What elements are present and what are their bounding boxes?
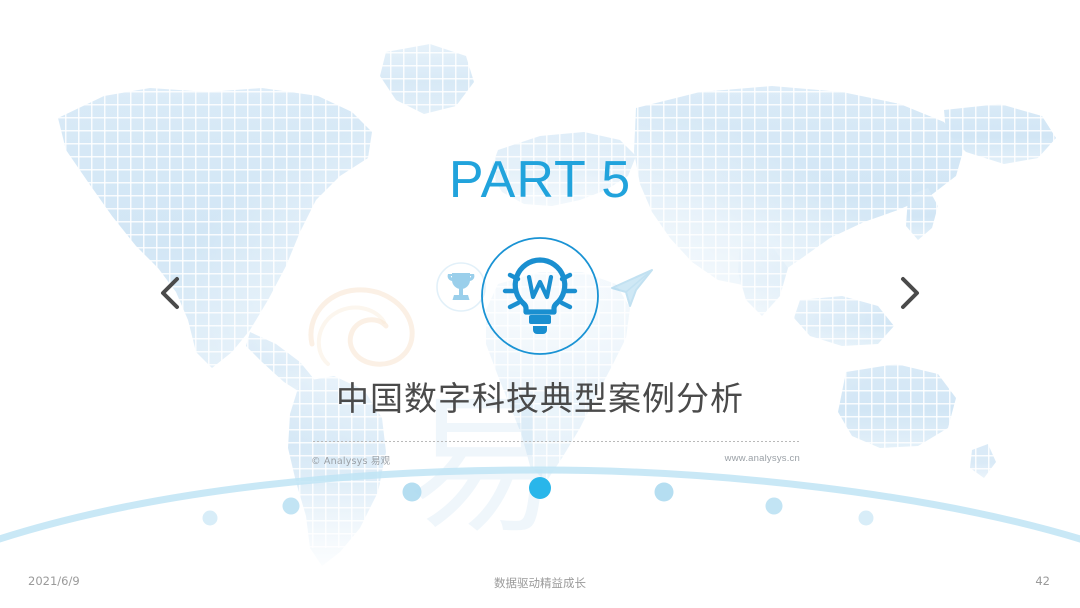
slide-footer: 2021/6/9 数据驱动精益成长 42 <box>0 560 1080 608</box>
footer-tagline: 数据驱动精益成长 <box>0 575 1080 591</box>
slide-subtitle: 中国数字科技典型案例分析 <box>0 372 1080 420</box>
progress-dot[interactable] <box>283 498 300 515</box>
progress-arc <box>0 460 1080 545</box>
progress-dot[interactable] <box>766 498 783 515</box>
next-slide-button[interactable] <box>886 268 934 318</box>
progress-dot-active[interactable] <box>529 477 551 499</box>
progress-dot[interactable] <box>859 511 874 526</box>
footer-page-number: 42 <box>1035 574 1050 588</box>
progress-dot[interactable] <box>655 483 674 502</box>
presentation-slide: 易 PART 5 <box>0 0 1080 608</box>
chevron-left-icon <box>156 275 184 311</box>
chevron-right-icon <box>896 275 924 311</box>
previous-slide-button[interactable] <box>146 268 194 318</box>
lightbulb-icon <box>479 235 601 357</box>
paper-plane-icon <box>606 264 656 310</box>
slide-content: PART 5 <box>0 0 1080 608</box>
progress-arc-svg <box>0 460 1080 545</box>
progress-dot[interactable] <box>203 511 218 526</box>
progress-dot[interactable] <box>403 483 422 502</box>
part-title: PART 5 <box>0 150 1080 210</box>
credit-divider <box>313 441 800 442</box>
